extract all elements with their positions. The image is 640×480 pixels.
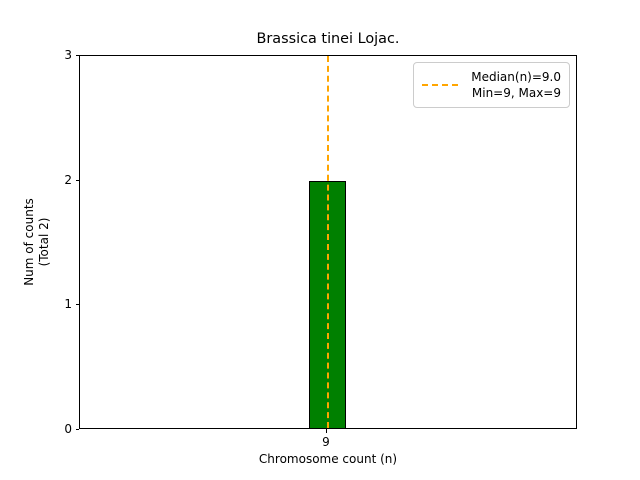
matplotlib-figure: Brassica tinei Lojac. 0 1 2 3 9 Chromoso… [0, 0, 640, 480]
legend-label-minmax: Min=9, Max=9 [466, 85, 561, 101]
legend: Median(n)=9.0 Min=9, Max=9 [413, 62, 570, 108]
ytick-mark-1 [76, 304, 80, 305]
y-axis-label: Num of counts (Total 2) [22, 0, 68, 480]
y-axis-label-line1: Num of counts [22, 55, 37, 429]
ytick-mark-2 [76, 180, 80, 181]
ytick-mark-3 [76, 55, 80, 56]
dashed-line-icon [422, 84, 458, 86]
plot-area [79, 55, 577, 429]
ytick-label-1: 1 [55, 298, 72, 310]
chart-title: Brassica tinei Lojac. [79, 30, 577, 48]
xtick-mark-9 [326, 429, 327, 433]
plot-inner [80, 56, 576, 428]
legend-entry-labels: Median(n)=9.0 Min=9, Max=9 [466, 69, 561, 101]
median-line [327, 56, 329, 428]
ytick-label-0: 0 [55, 423, 72, 435]
ytick-mark-0 [76, 429, 80, 430]
legend-entry-median: Median(n)=9.0 Min=9, Max=9 [422, 69, 561, 101]
ytick-label-2: 2 [55, 174, 72, 186]
legend-label-median: Median(n)=9.0 [466, 69, 561, 85]
x-axis-label: Chromosome count (n) [79, 452, 577, 466]
y-axis-label-line2: (Total 2) [37, 55, 52, 429]
ytick-label-3: 3 [55, 49, 72, 61]
xtick-label-9: 9 [306, 436, 346, 448]
